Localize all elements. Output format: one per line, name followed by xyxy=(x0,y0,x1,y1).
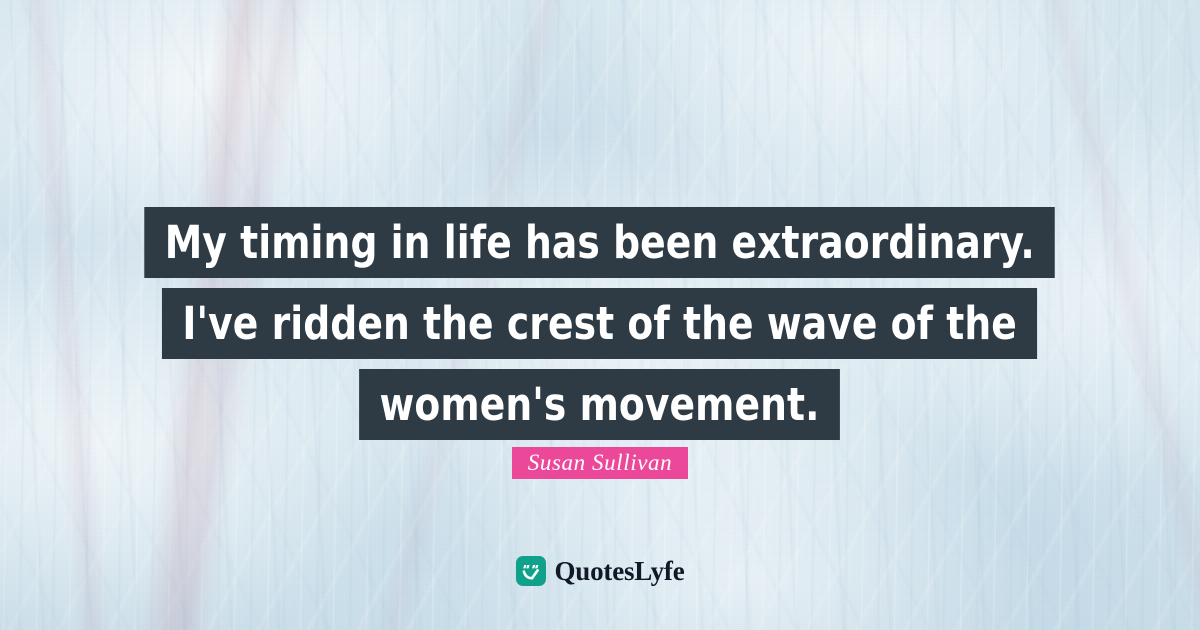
quote-text-block: My timing in life has been extraordinary… xyxy=(0,207,1200,440)
quote-line: I've ridden the crest of the wave of the xyxy=(162,288,1037,359)
card-content: My timing in life has been extraordinary… xyxy=(0,0,1200,630)
brand-name: QuotesLyfe xyxy=(555,556,685,586)
author-name: Susan Sullivan xyxy=(512,447,688,479)
quotes-smiley-icon xyxy=(516,556,546,586)
brand-logo: QuotesLyfe xyxy=(0,556,1200,586)
quote-line: women's movement. xyxy=(360,369,841,440)
author-attribution: Susan Sullivan xyxy=(0,447,1200,479)
quote-line: My timing in life has been extraordinary… xyxy=(145,207,1056,278)
quote-card: My timing in life has been extraordinary… xyxy=(0,0,1200,630)
